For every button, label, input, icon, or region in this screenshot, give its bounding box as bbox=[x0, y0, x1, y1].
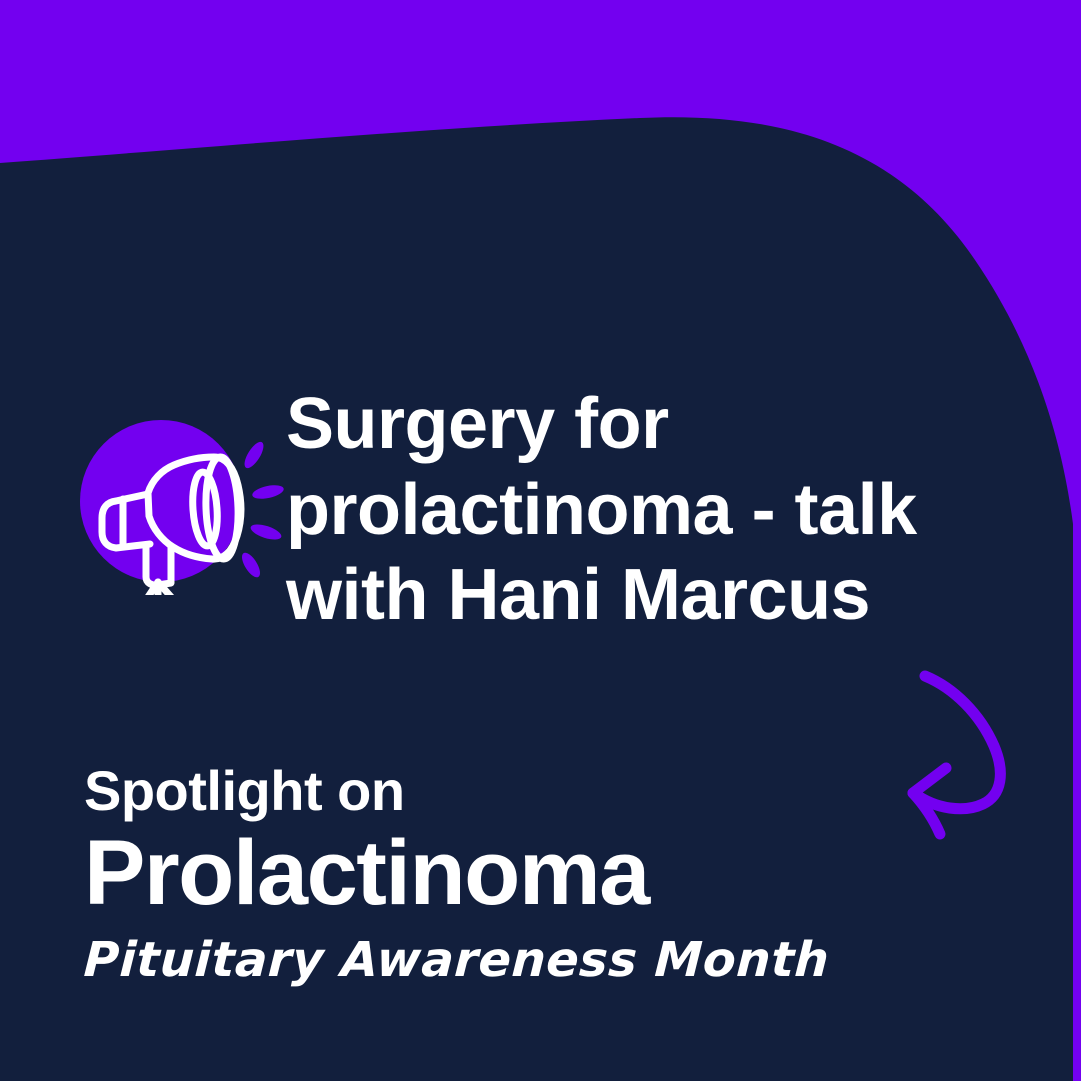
megaphone-icon bbox=[74, 410, 286, 595]
spotlight-campaign: Pituitary Awareness Month bbox=[83, 935, 986, 985]
announcement-block: Surgery for prolactinoma - talk with Han… bbox=[74, 382, 1024, 639]
poster-canvas: Surgery for prolactinoma - talk with Han… bbox=[0, 0, 1081, 1081]
spotlight-kicker: Spotlight on bbox=[84, 762, 984, 821]
spotlight-topic: Prolactinoma bbox=[84, 825, 984, 922]
spotlight-block: Spotlight on Prolactinoma Pituitary Awar… bbox=[84, 762, 984, 986]
sound-wave-strokes bbox=[238, 439, 284, 580]
megaphone-badge bbox=[74, 382, 286, 562]
announcement-title: Surgery for prolactinoma - talk with Han… bbox=[286, 382, 1024, 639]
